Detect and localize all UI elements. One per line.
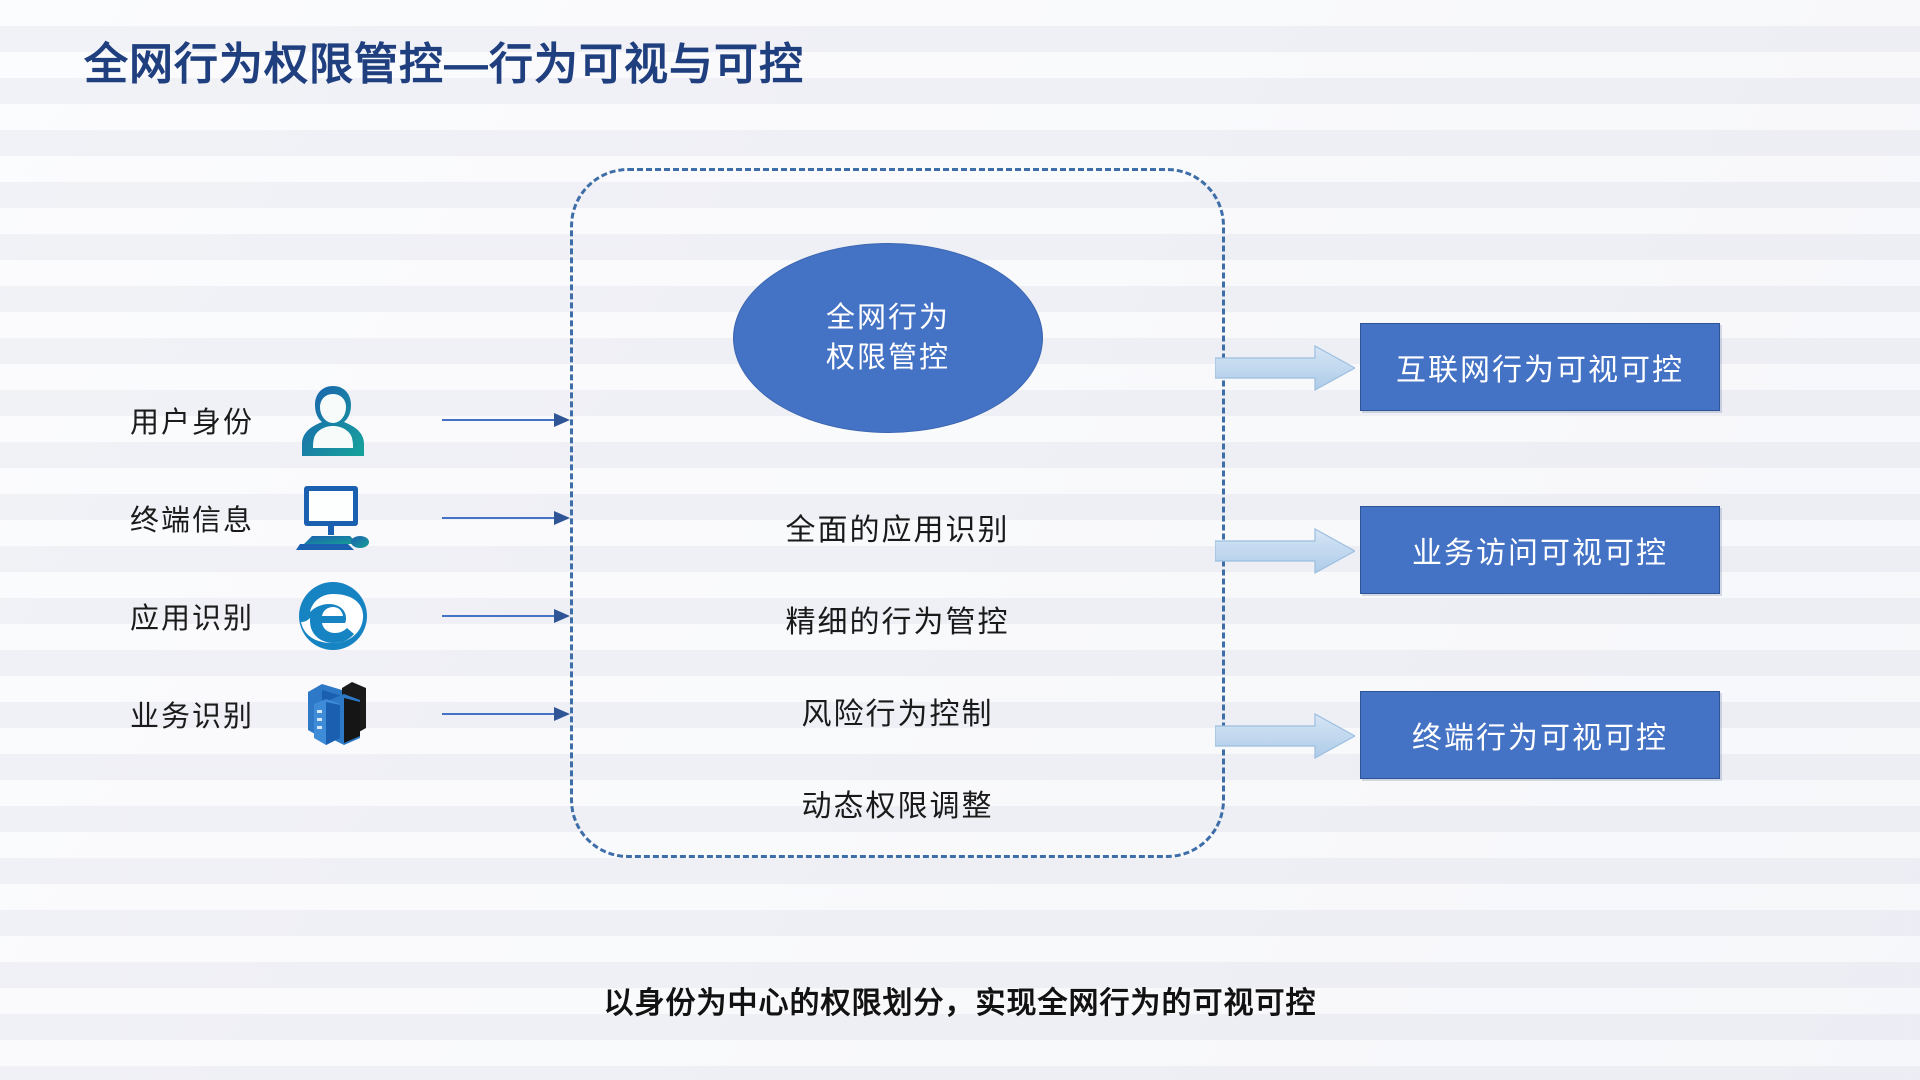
input-label: 用户身份 [130, 399, 290, 441]
capability-list: 全面的应用识别 精细的行为管控 风险行为控制 动态权限调整 [570, 505, 1225, 825]
user-icon [290, 380, 376, 460]
flow-arrow-to-core [442, 705, 570, 723]
capability-item: 全面的应用识别 [786, 505, 1010, 549]
capability-item: 动态权限调整 [802, 781, 994, 825]
input-row-business-identification: 业务识别 [130, 674, 570, 754]
flow-arrow-to-core [442, 411, 570, 429]
block-arrow-icon [1215, 345, 1355, 391]
core-ellipse-line-2: 权限管控 [826, 338, 950, 378]
block-arrow-icon [1215, 713, 1355, 759]
core-ellipse: 全网行为 权限管控 [733, 243, 1043, 433]
server-stack-icon [290, 674, 376, 754]
capability-item: 精细的行为管控 [786, 597, 1010, 641]
input-row-terminal-info: 终端信息 [130, 478, 570, 558]
input-row-application-identification: 应用识别 [130, 576, 570, 656]
input-row-user-identity: 用户身份 [130, 380, 570, 460]
flow-arrow-to-core [442, 509, 570, 527]
outcome-box[interactable]: 业务访问可视可控 [1360, 506, 1720, 594]
capability-item: 风险行为控制 [802, 689, 994, 733]
input-label: 应用识别 [130, 595, 290, 637]
page-title: 全网行为权限管控—行为可视与可控 [84, 28, 804, 92]
slide-caption: 以身份为中心的权限划分，实现全网行为的可视可控 [0, 978, 1920, 1022]
flow-arrow-to-core [442, 607, 570, 625]
internet-explorer-icon [290, 576, 376, 656]
input-label: 业务识别 [130, 693, 290, 735]
block-arrow-icon [1215, 528, 1355, 574]
outcome-box[interactable]: 互联网行为可视可控 [1360, 323, 1720, 411]
input-label: 终端信息 [130, 497, 290, 539]
slide-canvas: 全网行为权限管控—行为可视与可控 全网行为 权限管控 全面的应用识别 精细的行为… [0, 0, 1920, 1080]
core-ellipse-line-1: 全网行为 [826, 298, 950, 338]
outcome-box[interactable]: 终端行为可视可控 [1360, 691, 1720, 779]
input-source-list: 用户身份 [130, 380, 570, 754]
monitor-icon [290, 478, 376, 558]
